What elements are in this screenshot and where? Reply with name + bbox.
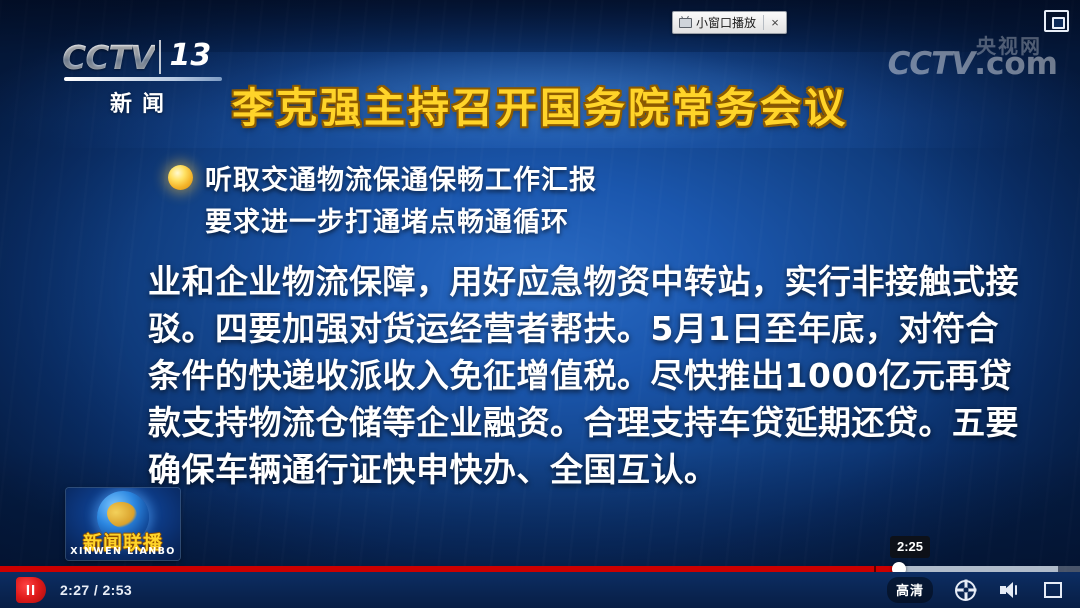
channel-logo-text: CCTV bbox=[62, 41, 155, 74]
program-bug: 新闻联播 XINWEN LIANBO bbox=[66, 488, 180, 560]
tv-icon bbox=[679, 17, 692, 28]
gold-bullet-icon bbox=[168, 165, 193, 190]
body-line-4: 款支持物流仓储等企业融资。合理支持车贷延期还贷。五要 bbox=[148, 399, 940, 446]
gear-icon bbox=[955, 580, 976, 601]
broadcast-body-text: 业和企业物流保障，用好应急物资中转站，实行非接触式接 驳。四要加强对货运经营者帮… bbox=[148, 258, 940, 493]
watermark-cn-text: 央视网 bbox=[976, 30, 1042, 59]
pip-inner-frame bbox=[1052, 17, 1065, 29]
fs-corner-br bbox=[1053, 589, 1062, 598]
small-window-tooltip[interactable]: 小窗口播放 × bbox=[672, 11, 787, 34]
volume-button[interactable] bbox=[1000, 582, 1020, 598]
close-icon[interactable]: × bbox=[764, 16, 786, 29]
broadcast-headline: 李克强主持召开国务院常务会议 bbox=[0, 74, 1080, 134]
subhead-row-1: 听取交通物流保通保畅工作汇报 bbox=[168, 160, 597, 202]
subhead-line-1: 听取交通物流保通保畅工作汇报 bbox=[205, 160, 597, 202]
subhead-line-2: 要求进一步打通堵点畅通循环 bbox=[205, 202, 597, 244]
broadcast-subheads: 听取交通物流保通保畅工作汇报 要求进一步打通堵点畅通循环 bbox=[168, 160, 597, 244]
gear-center bbox=[963, 588, 968, 593]
pause-glyph: II bbox=[26, 583, 36, 598]
settings-button[interactable] bbox=[955, 580, 976, 601]
volume-icon bbox=[1000, 582, 1020, 598]
program-bug-en: XINWEN LIANBO bbox=[66, 546, 180, 557]
picture-in-picture-icon[interactable] bbox=[1044, 10, 1066, 30]
fullscreen-icon bbox=[1044, 582, 1062, 598]
time-display: 2:27 / 2:53 bbox=[60, 582, 132, 598]
body-line-3: 条件的快递收派收入免征增值税。尽快推出1000亿元再贷 bbox=[148, 352, 940, 399]
quality-button[interactable]: 高清 bbox=[887, 577, 933, 603]
channel-logo-number: 13 bbox=[159, 40, 221, 74]
small-window-tooltip-label: 小窗口播放 bbox=[696, 17, 763, 29]
body-line-1: 业和企业物流保障，用好应急物资中转站，实行非接触式接 bbox=[148, 258, 940, 305]
pause-button[interactable]: II bbox=[16, 577, 46, 603]
globe-landmass bbox=[107, 502, 137, 528]
fs-corner-bl bbox=[1044, 589, 1053, 598]
progress-hover-time: 2:25 bbox=[890, 536, 930, 558]
body-line-5: 确保车辆通行证快申快办、全国互认。 bbox=[148, 446, 940, 493]
body-line-2: 驳。四要加强对货运经营者帮扶。5月1日至年底，对符合 bbox=[148, 305, 940, 352]
volume-wave bbox=[1015, 585, 1017, 595]
volume-cone bbox=[1004, 582, 1013, 598]
video-player[interactable]: CCTV 13 新闻 央视网 CCTV.com 李克强主持召开国务院常务会议 听… bbox=[0, 0, 1080, 608]
fullscreen-button[interactable] bbox=[1044, 582, 1062, 598]
control-bar: II 2:27 / 2:53 高清 bbox=[0, 572, 1080, 608]
tv-screen bbox=[679, 18, 692, 28]
